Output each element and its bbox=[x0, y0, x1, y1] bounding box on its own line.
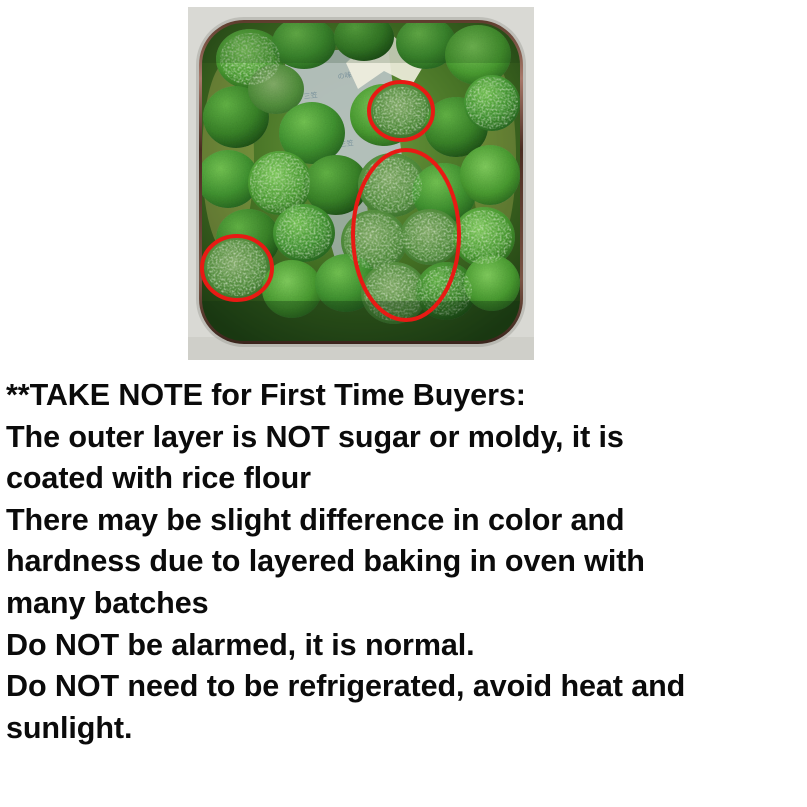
note-line-5: hardness due to layered baking in oven w… bbox=[6, 540, 789, 582]
tin-interior: 三笠 製菓 の味 三笠 bbox=[197, 13, 520, 341]
note-line-9: sunlight. bbox=[6, 707, 789, 749]
note-line-2: The outer layer is NOT sugar or moldy, i… bbox=[6, 416, 789, 458]
note-line-4: There may be slight difference in color … bbox=[6, 499, 789, 541]
note-line-7: Do NOT be alarmed, it is normal. bbox=[6, 624, 789, 666]
note-line-8: Do NOT need to be refrigerated, avoid he… bbox=[6, 665, 789, 707]
note-line-1: **TAKE NOTE for First Time Buyers: bbox=[6, 374, 789, 416]
product-photo: 三笠 製菓 の味 三笠 bbox=[188, 7, 534, 360]
note-line-6: many batches bbox=[6, 582, 789, 624]
note-line-3: coated with rice flour bbox=[6, 457, 789, 499]
candy-tin-photo-graphic: 三笠 製菓 の味 三笠 bbox=[188, 7, 534, 360]
note-text-block: **TAKE NOTE for First Time Buyers: The o… bbox=[6, 374, 801, 748]
product-note-page: 三笠 製菓 の味 三笠 bbox=[0, 0, 807, 807]
